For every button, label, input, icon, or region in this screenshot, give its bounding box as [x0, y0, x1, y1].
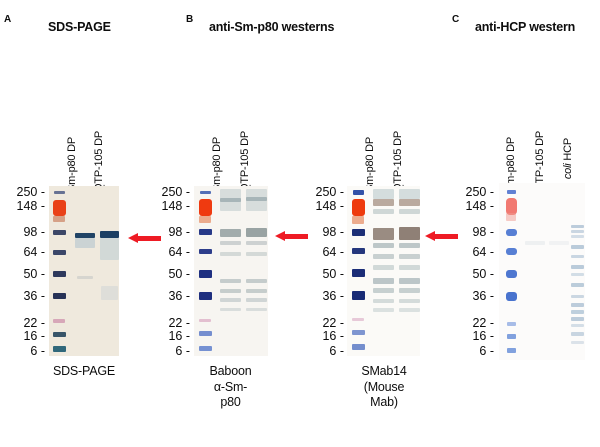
ladder-label-hcp-50: 50 -	[452, 268, 494, 281]
caption-baboon: Baboon α-Sm- p80	[173, 364, 288, 411]
lane-label-b-2: QTP-105 DP	[239, 131, 251, 192]
lane-label-smab14-2: QTP-105 DP	[392, 131, 404, 192]
ladder-label-c-6: 6 -	[302, 345, 344, 358]
caption-sds-page: SDS-PAGE	[24, 364, 144, 380]
ladder-label-c-36: 36 -	[302, 290, 344, 303]
ladder-label-a-36: 36 -	[3, 290, 45, 303]
ladder-label-a-16: 16 -	[3, 330, 45, 343]
panel-title-c: anti-HCP western	[475, 20, 575, 34]
panel-letter-b: B	[186, 14, 193, 25]
ladder-label-c-22: 22 -	[302, 317, 344, 330]
lane-label-smab14-1: Sm-p80 DP	[364, 137, 376, 192]
ladder-label-b-64: 64 -	[148, 246, 190, 259]
ladder-label-hcp-6: 6 -	[452, 345, 494, 358]
ladder-label-c-148: 148 -	[302, 200, 344, 213]
ladder-label-b-98: 98 -	[148, 226, 190, 239]
lane-label-a-1: Sm-p80 DP	[66, 137, 78, 192]
gel-image-hcp-western	[499, 183, 585, 360]
ladder-label-b-148: 148 -	[148, 200, 190, 213]
panel-letter-a: A	[4, 14, 11, 25]
ladder-label-a-50: 50 -	[3, 268, 45, 281]
ladder-label-hcp-148: 148 -	[452, 200, 494, 213]
ladder-label-b-16: 16 -	[148, 330, 190, 343]
ladder-label-hcp-36: 36 -	[452, 290, 494, 303]
lane-label-a-2: QTP-105 DP	[93, 131, 105, 192]
ladder-label-b-6: 6 -	[148, 345, 190, 358]
lane-label-b-1: Sm-p80 DP	[211, 137, 223, 192]
panel-title-b: anti-Sm-p80 westerns	[209, 20, 334, 34]
gel-image-baboon-western	[194, 186, 268, 356]
gel-image-sds-page	[49, 186, 119, 356]
ladder-label-b-22: 22 -	[148, 317, 190, 330]
ladder-label-c-50: 50 -	[302, 268, 344, 281]
ladder-label-b-50: 50 -	[148, 268, 190, 281]
panel-title-a: SDS-PAGE	[48, 20, 111, 34]
panel-letter-c: C	[452, 14, 459, 25]
ladder-label-hcp-250: 250 -	[452, 186, 494, 199]
ladder-label-a-22: 22 -	[3, 317, 45, 330]
ladder-label-b-250: 250 -	[148, 186, 190, 199]
ladder-label-c-250: 250 -	[302, 186, 344, 199]
ladder-label-c-64: 64 -	[302, 246, 344, 259]
ladder-label-a-64: 64 -	[3, 246, 45, 259]
ladder-label-b-36: 36 -	[148, 290, 190, 303]
ladder-label-a-250: 250 -	[3, 186, 45, 199]
ladder-label-a-98: 98 -	[3, 226, 45, 239]
ladder-label-hcp-16: 16 -	[452, 330, 494, 343]
ladder-label-hcp-98: 98 -	[452, 226, 494, 239]
ladder-label-c-98: 98 -	[302, 226, 344, 239]
ladder-label-a-6: 6 -	[3, 345, 45, 358]
gel-image-smab14-western	[347, 186, 420, 356]
ladder-label-a-148: 148 -	[3, 200, 45, 213]
ladder-label-c-16: 16 -	[302, 330, 344, 343]
ladder-label-hcp-64: 64 -	[452, 246, 494, 259]
figure-canvas: A SDS-PAGE Sm-p80 DP QTP-105 DP 250 - 14…	[0, 0, 600, 447]
ladder-label-hcp-22: 22 -	[452, 317, 494, 330]
caption-smab14: SMab14 (Mouse Mab)	[329, 364, 439, 411]
